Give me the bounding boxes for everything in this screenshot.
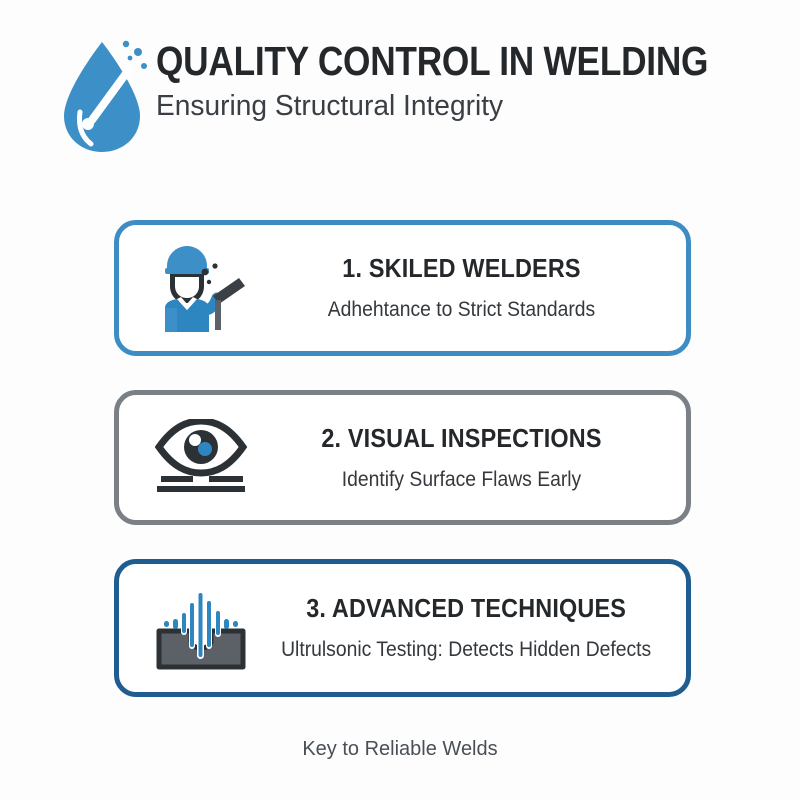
card-title: 3. ADVANCED TECHNIQUES bbox=[285, 593, 647, 624]
card-title: 2. VISUAL INSPECTIONS bbox=[285, 423, 639, 454]
welder-worker-icon bbox=[153, 242, 249, 334]
card-icon-slot bbox=[141, 578, 261, 678]
card-text-block: 3. ADVANCED TECHNIQUES Ultrulsonic Testi… bbox=[261, 593, 695, 663]
page-subtitle: Ensuring Structural Integrity bbox=[156, 88, 779, 124]
footer-caption: Key to Reliable Welds bbox=[0, 738, 800, 761]
card-subtitle: Adhehtance to Strict Standards bbox=[281, 297, 643, 323]
card-visual-inspections[interactable]: 2. VISUAL INSPECTIONS Identify Surface F… bbox=[114, 390, 691, 525]
card-subtitle: Ultrulsonic Testing: Detects Hidden Defe… bbox=[281, 637, 651, 663]
card-text-block: 2. VISUAL INSPECTIONS Identify Surface F… bbox=[261, 423, 686, 493]
card-list: 1. SKILED WELDERS Adhehtance to Strict S… bbox=[114, 220, 691, 697]
card-icon-slot bbox=[141, 408, 261, 508]
logo bbox=[52, 32, 156, 162]
header-text-block: QUALITY CONTROL IN WELDING Ensuring Stru… bbox=[156, 32, 798, 124]
card-text-block: 1. SKILED WELDERS Adhehtance to Strict S… bbox=[261, 253, 686, 323]
card-subtitle: Identify Surface Flaws Early bbox=[281, 467, 643, 493]
card-skilled-welders[interactable]: 1. SKILED WELDERS Adhehtance to Strict S… bbox=[114, 220, 691, 356]
ultrasonic-waveform-icon bbox=[153, 585, 249, 671]
water-droplet-sparkle-icon bbox=[58, 34, 150, 156]
infographic-canvas: QUALITY CONTROL IN WELDING Ensuring Stru… bbox=[0, 0, 800, 800]
eye-inspection-icon bbox=[153, 419, 249, 497]
card-icon-slot bbox=[141, 238, 261, 338]
page-title: QUALITY CONTROL IN WELDING bbox=[156, 38, 708, 84]
card-advanced-techniques[interactable]: 3. ADVANCED TECHNIQUES Ultrulsonic Testi… bbox=[114, 559, 691, 697]
card-title: 1. SKILED WELDERS bbox=[285, 253, 639, 284]
header: QUALITY CONTROL IN WELDING Ensuring Stru… bbox=[52, 32, 752, 162]
